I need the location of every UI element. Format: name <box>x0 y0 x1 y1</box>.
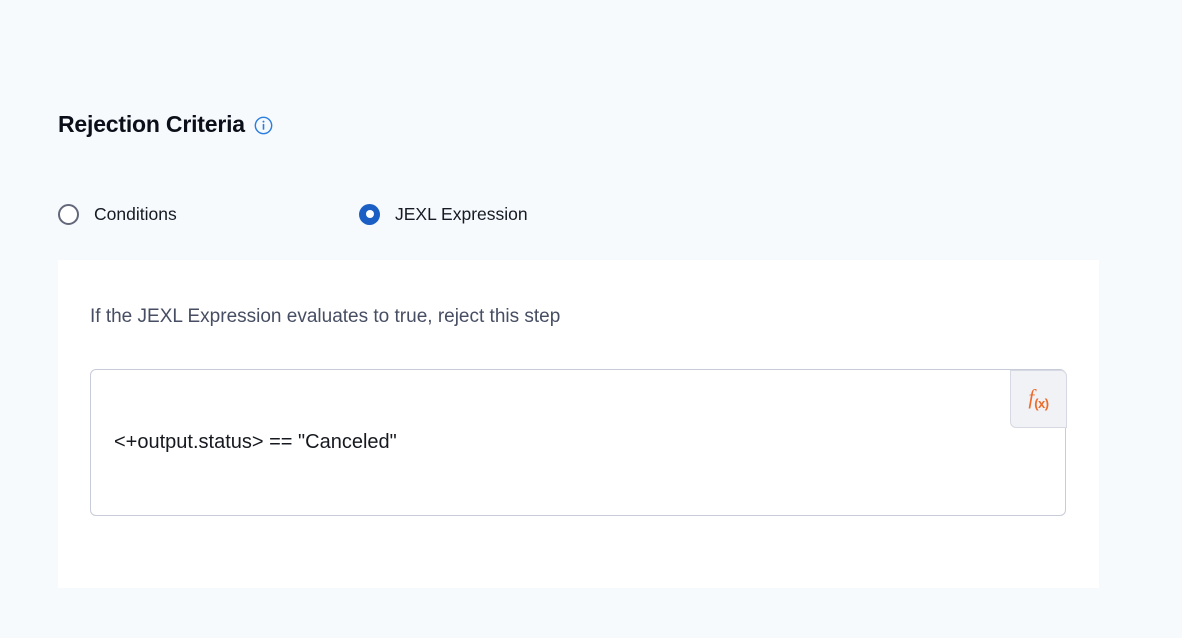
radio-option-jexl-expression[interactable]: JEXL Expression <box>359 203 528 225</box>
radio-button-conditions[interactable] <box>58 204 79 225</box>
panel-caption: If the JEXL Expression evaluates to true… <box>90 305 560 329</box>
expression-input-wrapper: <+output.status> == "Canceled" f(x) <box>90 369 1066 516</box>
fx-label: f(x) <box>1028 387 1048 410</box>
fx-subscript: (x) <box>1034 396 1048 411</box>
radio-label-conditions: Conditions <box>94 203 177 225</box>
radio-selected-dot <box>366 210 374 218</box>
radio-button-jexl-expression[interactable] <box>359 204 380 225</box>
rejection-criteria-mode-group: Conditions JEXL Expression <box>58 197 528 231</box>
expression-input-value[interactable]: <+output.status> == "Canceled" <box>114 429 397 455</box>
section-header: Rejection Criteria <box>58 109 273 139</box>
page-title: Rejection Criteria <box>58 109 245 139</box>
radio-label-jexl-expression: JEXL Expression <box>395 203 528 225</box>
radio-option-conditions[interactable]: Conditions <box>58 203 359 225</box>
fx-expression-icon[interactable]: f(x) <box>1010 370 1067 428</box>
jexl-expression-panel: If the JEXL Expression evaluates to true… <box>58 260 1099 588</box>
info-circle-icon[interactable] <box>254 116 273 135</box>
expression-input[interactable]: <+output.status> == "Canceled" <box>90 369 1066 516</box>
